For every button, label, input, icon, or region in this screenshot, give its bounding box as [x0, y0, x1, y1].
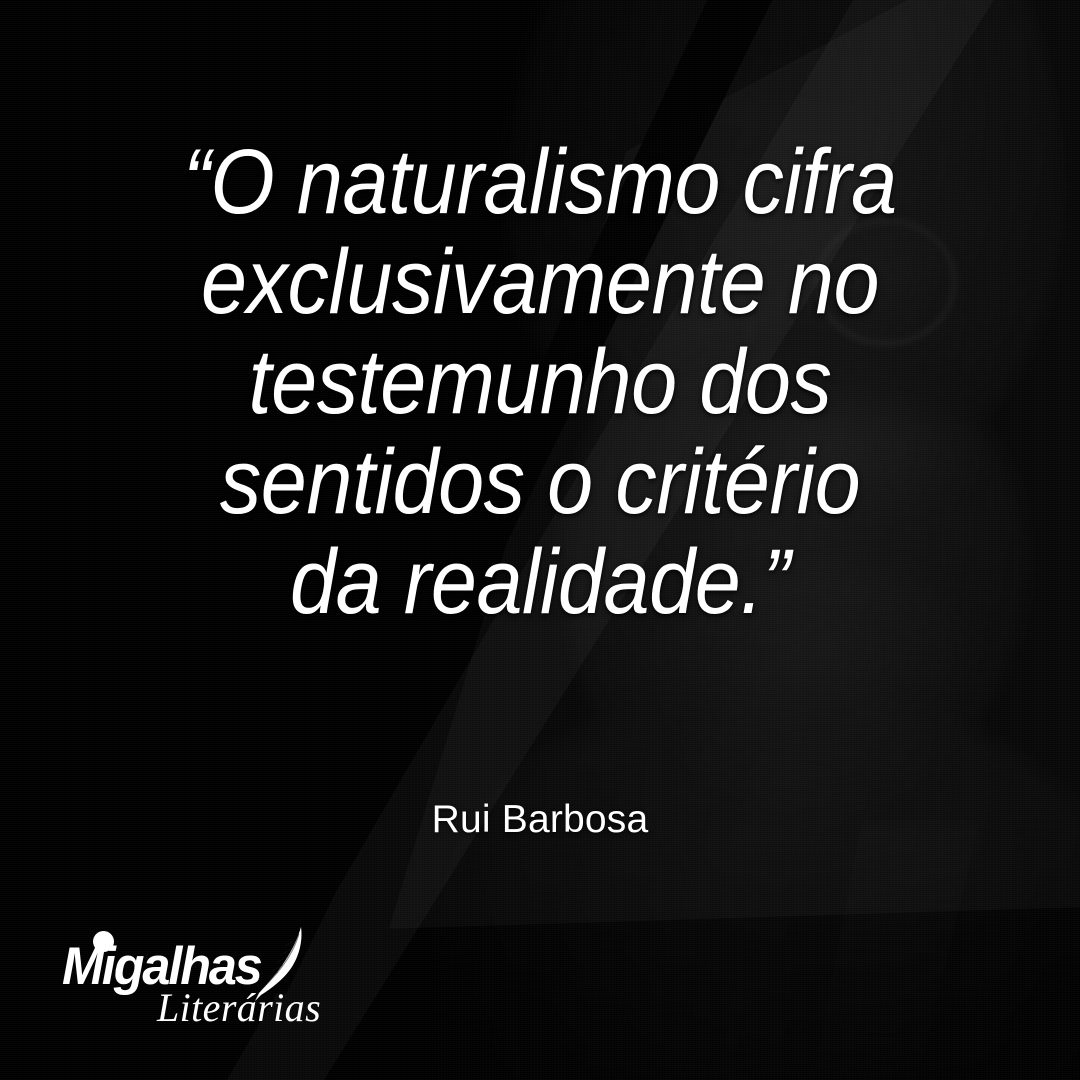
brand-logo[interactable]: Migalhas Literárias: [62, 928, 362, 1028]
quote-line-4: sentidos o critério: [90, 432, 990, 532]
brand-logo-subtitle: Literárias: [157, 984, 321, 1031]
quote-text: “O naturalismo cifra exclusivamente no t…: [0, 132, 1080, 632]
brand-logo-i-dot: [93, 931, 114, 952]
quote-line-2: exclusivamente no: [90, 232, 990, 332]
quote-card: “O naturalismo cifra exclusivamente no t…: [0, 0, 1080, 1080]
quote-line-1: “O naturalismo cifra: [90, 132, 990, 232]
author-name: Rui Barbosa: [0, 798, 1080, 842]
quote-line-5: da realidade.”: [90, 532, 990, 632]
quote-line-3: testemunho dos: [90, 332, 990, 432]
